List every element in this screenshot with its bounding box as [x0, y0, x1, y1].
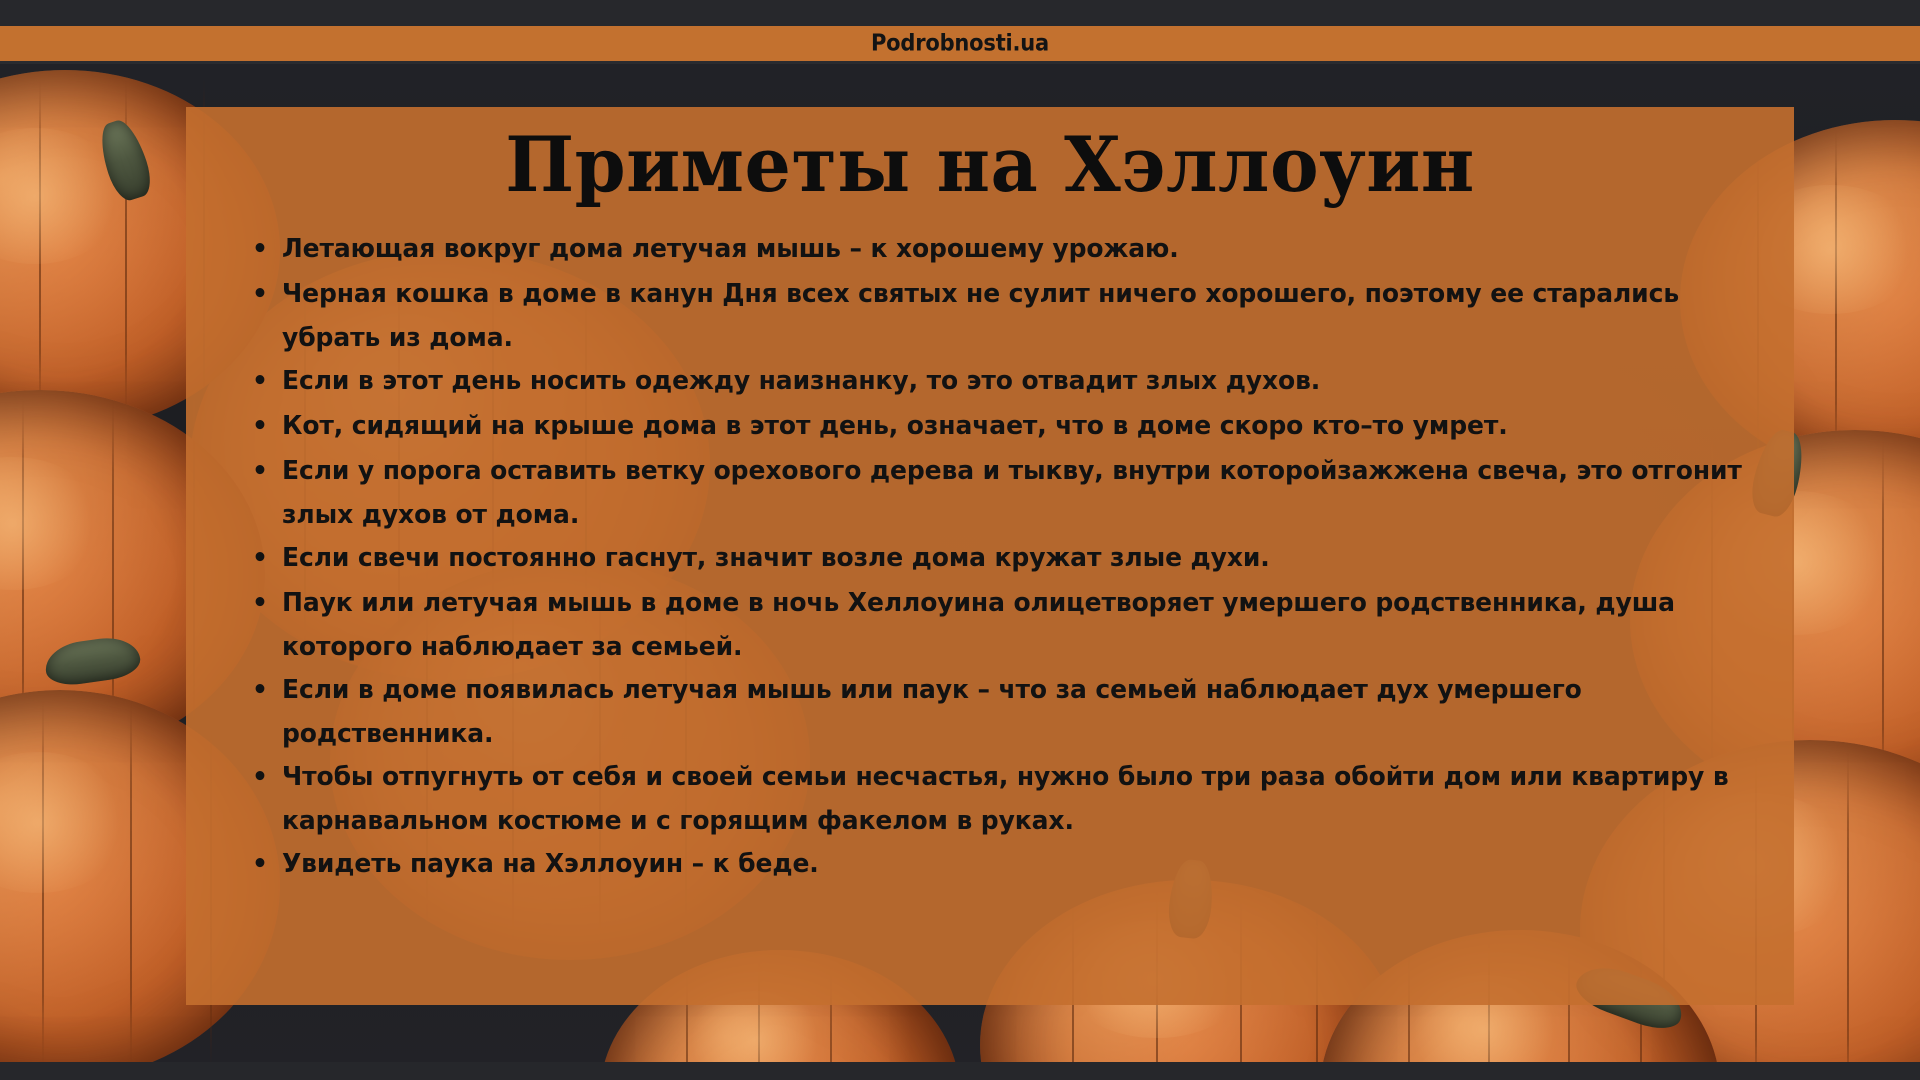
list-item: Если у порога оставить ветку орехового д…	[248, 449, 1754, 536]
content-panel: Приметы на Хэллоуин Летающая вокруг дома…	[186, 107, 1794, 1005]
list-item: Черная кошка в доме в канун Дня всех свя…	[248, 272, 1754, 359]
list-item: Летающая вокруг дома летучая мышь – к хо…	[248, 227, 1754, 271]
bottom-dark-strip	[0, 1062, 1920, 1080]
list-item: Если свечи постоянно гаснут, значит возл…	[248, 536, 1754, 580]
omens-list: Летающая вокруг дома летучая мышь – к хо…	[186, 205, 1794, 884]
site-banner: Podrobnosti.ua	[0, 26, 1920, 61]
site-name-label: Podrobnosti.ua	[871, 32, 1049, 55]
list-item: Если в доме появилась летучая мышь или п…	[248, 668, 1754, 755]
list-item: Кот, сидящий на крыше дома в этот день, …	[248, 404, 1754, 448]
banner-bottom-rule	[0, 61, 1920, 64]
list-item: Если в этот день носить одежду наизнанку…	[248, 359, 1754, 403]
list-item: Чтобы отпугнуть от себя и своей семьи не…	[248, 755, 1754, 842]
list-item: Увидеть паука на Хэллоуин – к беде.	[248, 842, 1754, 886]
top-dark-strip	[0, 0, 1920, 26]
page-title: Приметы на Хэллоуин	[218, 107, 1762, 205]
list-item: Паук или летучая мышь в доме в ночь Хелл…	[248, 581, 1754, 668]
slide-root: Podrobnosti.ua Приметы на Хэллоуин Летаю…	[0, 0, 1920, 1080]
